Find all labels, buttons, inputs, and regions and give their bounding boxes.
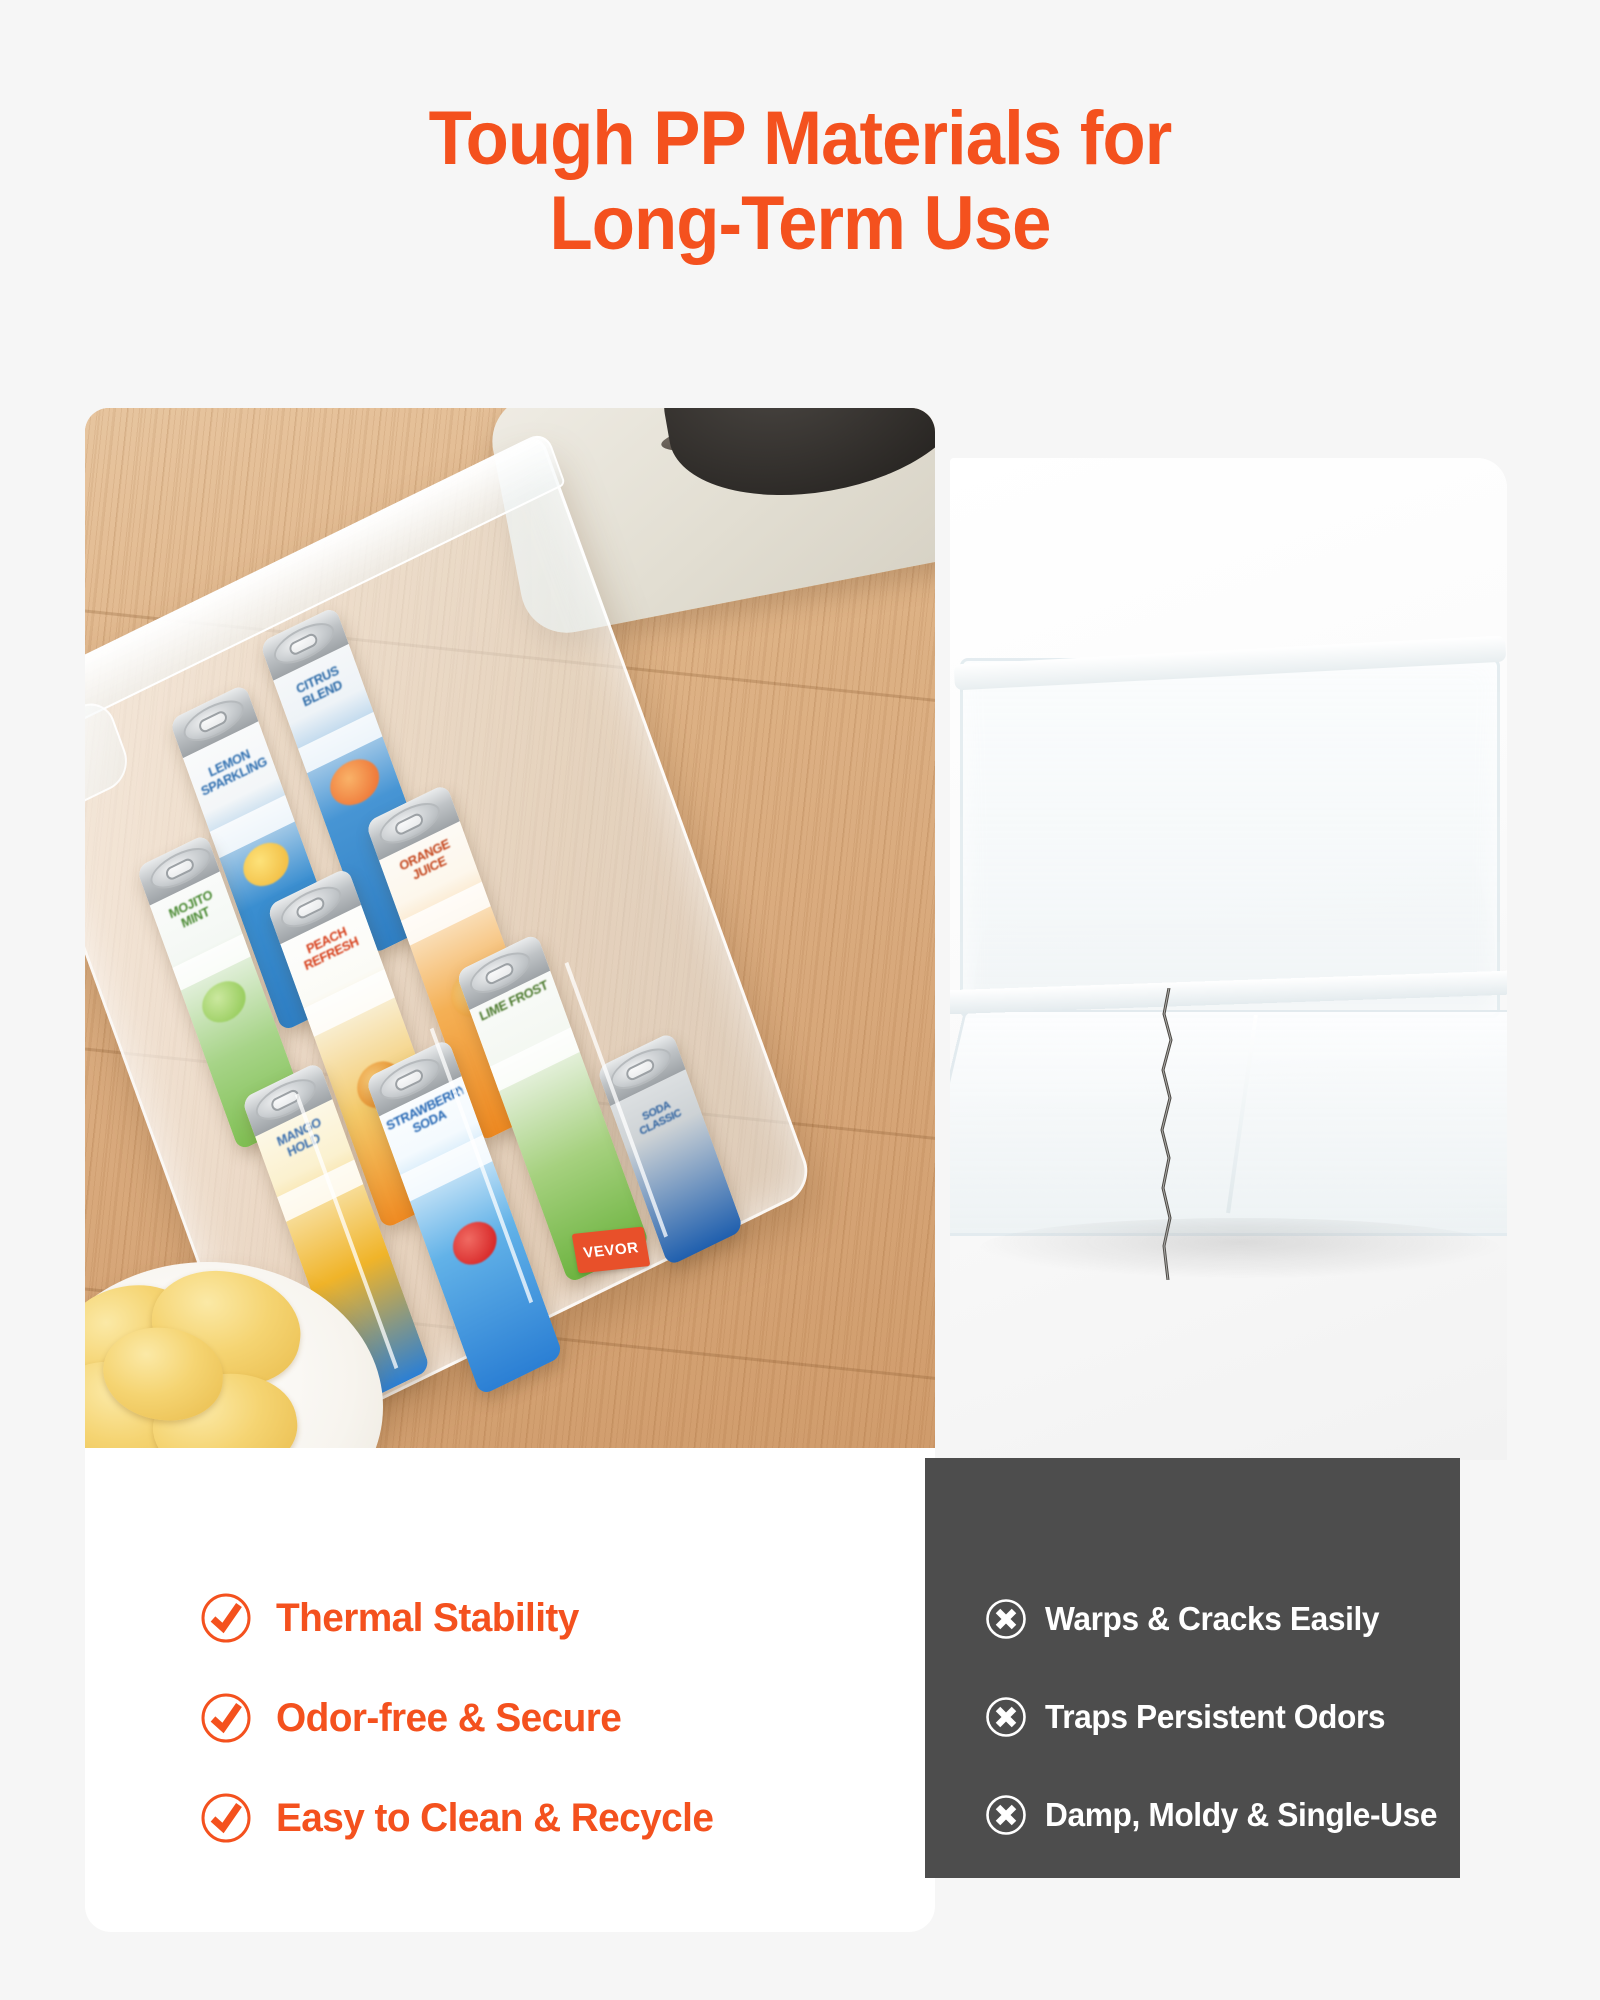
check-circle-icon — [200, 1592, 252, 1644]
pros-item: Easy to Clean & Recycle — [200, 1768, 900, 1868]
check-circle-icon — [200, 1792, 252, 1844]
cons-item: Traps Persistent Odors — [985, 1668, 1455, 1766]
x-circle-icon — [985, 1794, 1027, 1836]
x-circle-icon — [985, 1696, 1027, 1738]
bin-back-panel — [960, 658, 1500, 1018]
page-title: Tough PP Materials for Long-Term Use — [56, 96, 1544, 266]
cons-panel: Warps & Cracks Easily Traps Persistent O… — [925, 1458, 1460, 1878]
pros-list: Thermal Stability Odor-free & Secure Eas… — [200, 1568, 900, 1868]
cons-item: Damp, Moldy & Single-Use — [985, 1766, 1455, 1864]
product-photo-good: LEMON SPARKLING CITRUS BLEND MOJITO MINT — [85, 408, 935, 1448]
pros-item-label: Thermal Stability — [276, 1596, 579, 1641]
check-circle-icon — [200, 1692, 252, 1744]
cracked-acrylic-bin — [950, 658, 1507, 1278]
pros-item: Odor-free & Secure — [200, 1668, 900, 1768]
product-photo-bad — [950, 458, 1507, 1460]
page-title-line-2: Long-Term Use — [56, 181, 1544, 266]
page-title-line-1: Tough PP Materials for — [56, 96, 1544, 181]
vevor-badge-label: VEVOR — [582, 1239, 640, 1262]
cons-item: Warps & Cracks Easily — [985, 1570, 1455, 1668]
cons-item-label: Damp, Moldy & Single-Use — [1045, 1796, 1437, 1834]
x-circle-icon — [985, 1598, 1027, 1640]
product-feature-page: Tough PP Materials for Long-Term Use LEM… — [0, 0, 1600, 2000]
cons-item-label: Warps & Cracks Easily — [1045, 1600, 1379, 1638]
bin-shadow — [980, 1218, 1500, 1278]
pros-item: Thermal Stability — [200, 1568, 900, 1668]
cons-list: Warps & Cracks Easily Traps Persistent O… — [985, 1570, 1455, 1864]
cons-item-label: Traps Persistent Odors — [1045, 1698, 1385, 1736]
pros-item-label: Easy to Clean & Recycle — [276, 1796, 713, 1841]
vevor-brand-badge: VEVOR — [572, 1227, 651, 1274]
pros-item-label: Odor-free & Secure — [276, 1696, 621, 1741]
